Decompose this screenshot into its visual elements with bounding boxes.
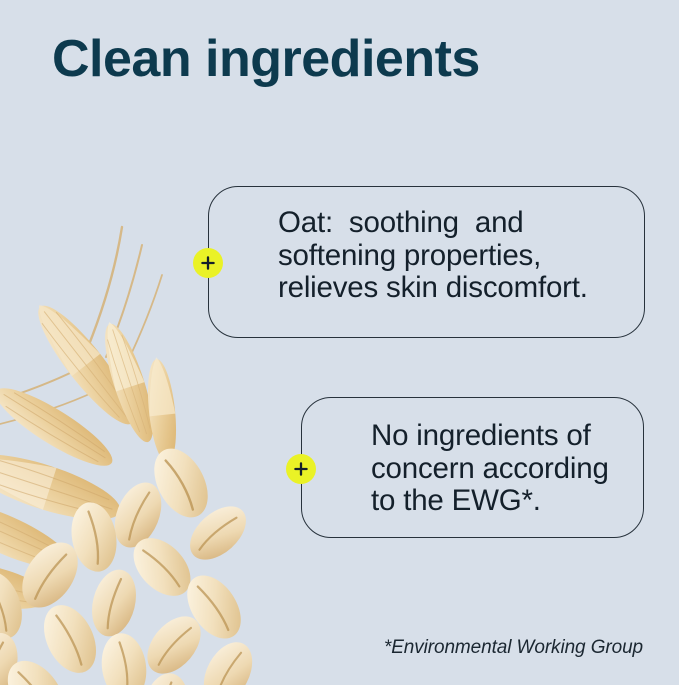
poster-canvas: Clean ingredients: [0, 0, 679, 679]
footnote: *Environmental Working Group: [384, 637, 643, 659]
ingredient-card-oat-text: Oat: soothing and softening properties, …: [278, 207, 588, 305]
plus-icon: [286, 454, 316, 484]
plus-icon: [193, 248, 223, 278]
page-title: Clean ingredients: [52, 32, 480, 87]
ingredient-card-ewg[interactable]: No ingredients of concern according to t…: [301, 397, 644, 538]
ingredient-card-ewg-text: No ingredients of concern according to t…: [371, 420, 609, 518]
ingredient-card-oat[interactable]: Oat: soothing and softening properties, …: [208, 186, 645, 338]
